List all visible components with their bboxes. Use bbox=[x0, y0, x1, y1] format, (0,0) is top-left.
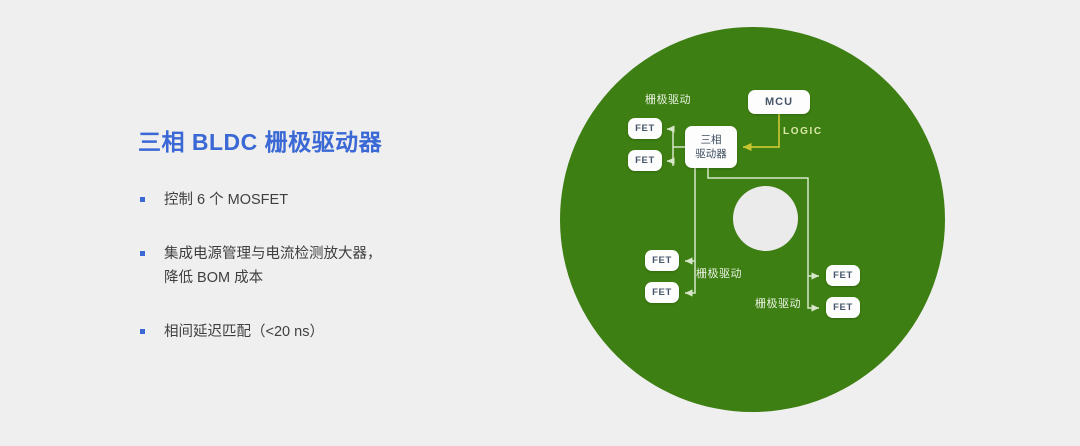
rotor-hole-circle bbox=[733, 186, 798, 251]
fet-node-b2[interactable]: FET bbox=[645, 282, 679, 303]
label-gate-drive-top: 栅极驱动 bbox=[645, 91, 691, 107]
bullet-square-icon bbox=[140, 329, 145, 334]
list-item: 控制 6 个 MOSFET bbox=[138, 187, 538, 214]
fet-label: FET bbox=[652, 255, 672, 266]
left-content-panel: 三相 BLDC 栅极驱动器 控制 6 个 MOSFET 集成电源管理与电流检测放… bbox=[138, 128, 538, 346]
bullet-text: 控制 6 个 MOSFET bbox=[164, 187, 538, 214]
bullet-text: 相间延迟匹配（<20 ns） bbox=[164, 319, 538, 346]
fet-node-c1[interactable]: FET bbox=[826, 265, 860, 286]
fet-label: FET bbox=[833, 302, 853, 313]
fet-node-c2[interactable]: FET bbox=[826, 297, 860, 318]
fet-label: FET bbox=[652, 287, 672, 298]
mcu-node[interactable]: MCU bbox=[748, 90, 810, 114]
bullet-square-icon bbox=[140, 197, 145, 202]
driver-label-line1: 三相 bbox=[701, 133, 722, 147]
bldc-system-diagram: MCU 三相 驱动器 FET FET FET FET FET FET 栅极驱动 … bbox=[540, 0, 1080, 446]
mcu-label: MCU bbox=[765, 96, 793, 108]
fet-node-a1[interactable]: FET bbox=[628, 118, 662, 139]
page-title: 三相 BLDC 栅极驱动器 bbox=[138, 128, 538, 157]
fet-node-a2[interactable]: FET bbox=[628, 150, 662, 171]
label-logic: LOGIC bbox=[783, 126, 823, 137]
label-gate-drive-right: 栅极驱动 bbox=[755, 295, 801, 311]
fet-node-b1[interactable]: FET bbox=[645, 250, 679, 271]
fet-label: FET bbox=[635, 123, 655, 134]
list-item: 相间延迟匹配（<20 ns） bbox=[138, 319, 538, 346]
label-gate-drive-left: 栅极驱动 bbox=[696, 265, 742, 281]
list-item: 集成电源管理与电流检测放大器， 降低 BOM 成本 bbox=[138, 241, 538, 293]
bullet-text: 集成电源管理与电流检测放大器， bbox=[164, 241, 538, 268]
bullet-square-icon bbox=[140, 251, 145, 256]
feature-bullet-list: 控制 6 个 MOSFET 集成电源管理与电流检测放大器， 降低 BOM 成本 … bbox=[138, 187, 538, 346]
driver-label-line2: 驱动器 bbox=[695, 147, 727, 161]
bullet-text-continued: 降低 BOM 成本 bbox=[164, 265, 538, 292]
three-phase-driver-node[interactable]: 三相 驱动器 bbox=[685, 126, 737, 168]
fet-label: FET bbox=[833, 270, 853, 281]
fet-label: FET bbox=[635, 155, 655, 166]
